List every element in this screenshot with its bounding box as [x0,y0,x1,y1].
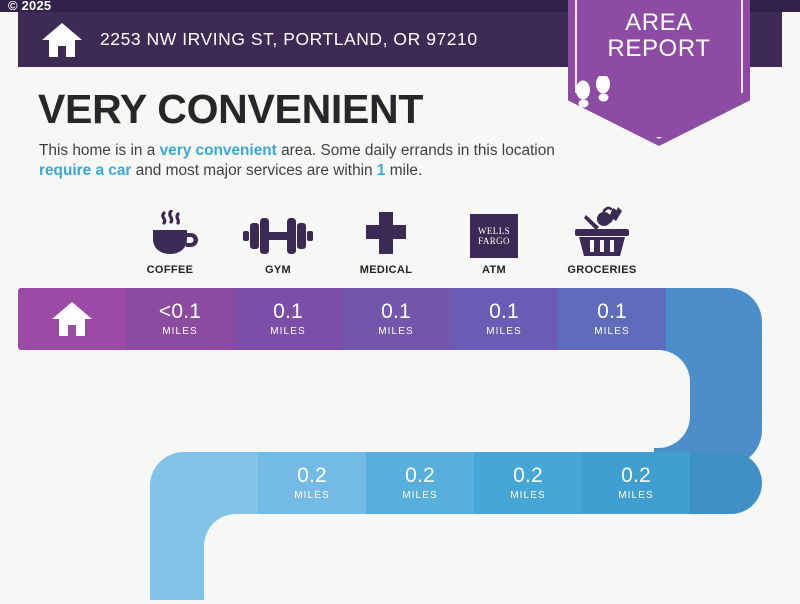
amenity-medical: MEDICAL [332,198,440,276]
distance-unit: MILES [270,326,306,337]
distance-value: 0.2 [297,465,327,486]
wells-fargo-icon: WELLS FARGO [440,206,548,258]
coffee-icon [116,206,224,258]
origin-home-cell [18,288,126,350]
desc-part-4: mile. [385,162,422,179]
amenity-atm: WELLS FARGO ATM [440,198,548,276]
badge-line-1: AREA [568,10,750,36]
distance-cell: 0.1 MILES [450,288,558,350]
area-report-badge: AREA REPORT [568,0,750,146]
distance-value: 0.1 [597,301,627,322]
distance-row-2: 0.2 MILES 0.2 MILES 0.2 MILES 0.2 MILES [150,452,762,514]
amenity-icon-row-1: COFFEE GYM MEDICAL [0,198,800,276]
wells-fargo-line-1: WELLS [478,226,510,236]
distance-value: 0.2 [621,465,651,486]
path-tail-cap [690,452,762,514]
footprints-icon [568,76,750,116]
home-icon [50,300,94,338]
amenity-coffee: COFFEE [116,198,224,276]
amenity-groceries: GROCERIES [548,198,656,276]
badge-text: AREA REPORT [568,10,750,62]
distance-cell: 0.1 MILES [234,288,342,350]
distance-cell: <0.1 MILES [126,288,234,350]
distance-unit: MILES [402,490,438,501]
distance-value: <0.1 [159,301,201,322]
path-gap-lower [204,514,800,604]
home-icon [40,20,84,60]
distance-cell: 0.1 MILES [558,288,666,350]
desc-highlight-1: very convenient [160,142,277,159]
desc-part-3: and most major services are within [131,162,376,179]
distance-row-1: <0.1 MILES 0.1 MILES 0.1 MILES 0.1 MILES… [18,288,762,350]
distance-cell: 0.2 MILES [582,452,690,514]
distance-cell: 0.2 MILES [366,452,474,514]
amenity-gym: GYM [224,198,332,276]
copyright-label: © 2025 [8,0,51,13]
distance-path-chart: <0.1 MILES 0.1 MILES 0.1 MILES 0.1 MILES… [0,270,800,600]
dumbbell-icon [224,206,332,258]
distance-unit: MILES [162,326,198,337]
distance-cell: 0.2 MILES [258,452,366,514]
desc-highlight-2: require a car [39,162,131,179]
distance-unit: MILES [294,490,330,501]
distance-cell: 0.2 MILES [474,452,582,514]
distance-value: 0.1 [381,301,411,322]
badge-line-2: REPORT [568,36,750,62]
page-title: VERY CONVENIENT [38,86,423,133]
grocery-basket-icon [548,206,656,258]
property-address: 2253 NW IRVING ST, PORTLAND, OR 97210 [100,29,478,50]
path-lead-cell [150,452,258,514]
wells-fargo-line-2: FARGO [478,236,510,246]
distance-unit: MILES [618,490,654,501]
desc-part-2: area. Some daily errands in this locatio… [277,142,555,159]
desc-part-1: This home is in a [39,142,160,159]
distance-value: 0.2 [405,465,435,486]
distance-value: 0.1 [273,301,303,322]
description-text: This home is in a very convenient area. … [39,141,569,182]
distance-value: 0.1 [489,301,519,322]
distance-cell: 0.1 MILES [342,288,450,350]
distance-unit: MILES [594,326,630,337]
distance-unit: MILES [486,326,522,337]
medical-cross-icon [332,206,440,258]
distance-unit: MILES [378,326,414,337]
distance-value: 0.2 [513,465,543,486]
path-gap-upper [0,350,690,448]
distance-unit: MILES [510,490,546,501]
